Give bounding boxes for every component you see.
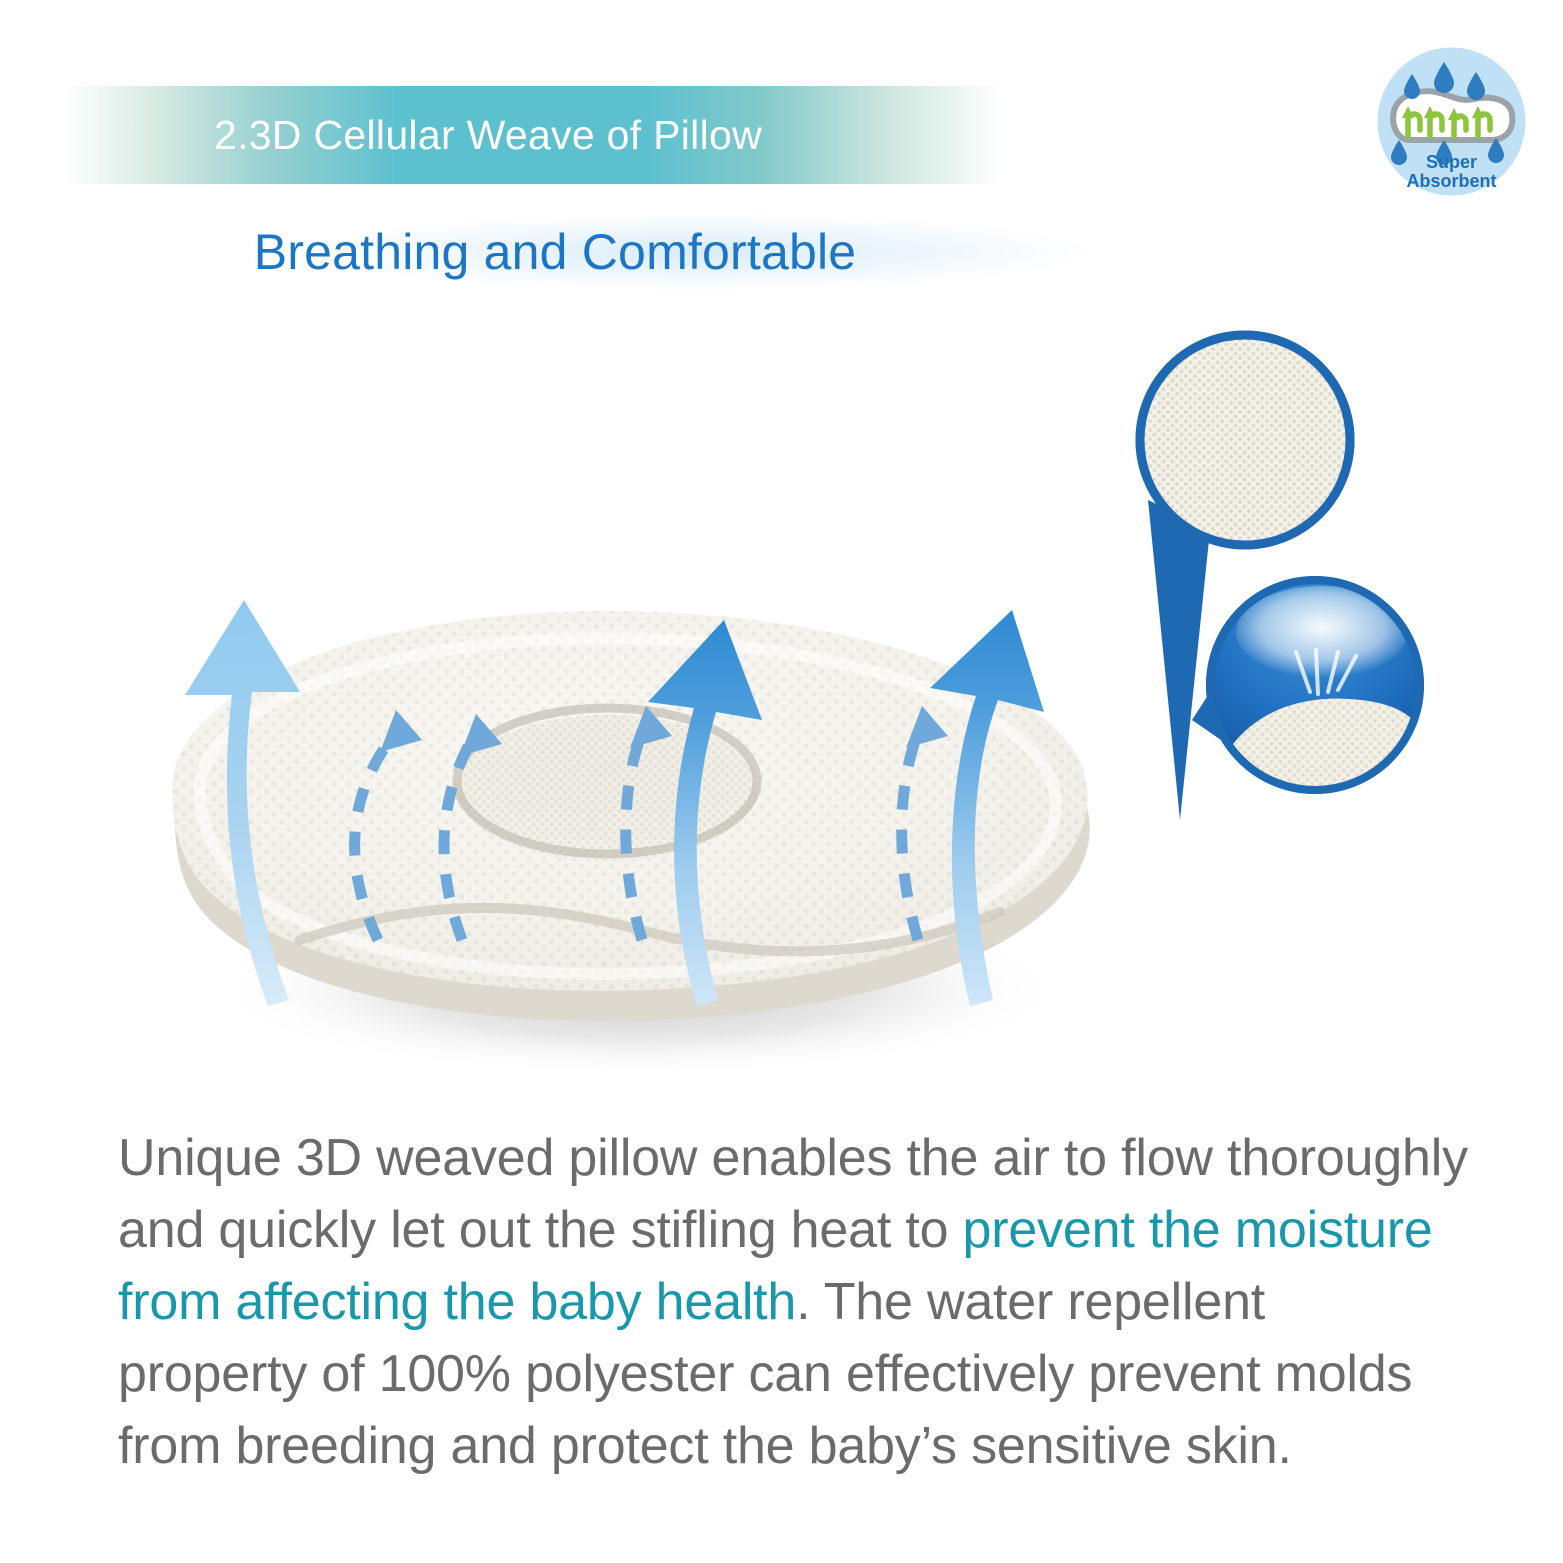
- product-infographic-page: 2.3D Cellular Weave of Pillow: [0, 0, 1563, 1563]
- header-banner: 2.3D Cellular Weave of Pillow: [62, 86, 1002, 184]
- subtitle-text: Breathing and Comfortable: [254, 223, 857, 281]
- super-absorbent-badge: Super Absorbent: [1374, 44, 1529, 199]
- badge-line1: Super: [1426, 152, 1477, 172]
- subtitle-container: Breathing and Comfortable: [0, 206, 1110, 298]
- banner-title: 2.3D Cellular Weave of Pillow: [214, 112, 762, 159]
- callout-pointer-1: [1148, 500, 1210, 820]
- body-paragraph: Unique 3D weaved pillow enables the air …: [118, 1122, 1468, 1482]
- callout-moisture-evaporation[interactable]: [1192, 580, 1424, 800]
- pillow-hollow-texture: [457, 715, 757, 861]
- badge-line2: Absorbent: [1407, 171, 1497, 191]
- illustration-stage: [0, 300, 1563, 1100]
